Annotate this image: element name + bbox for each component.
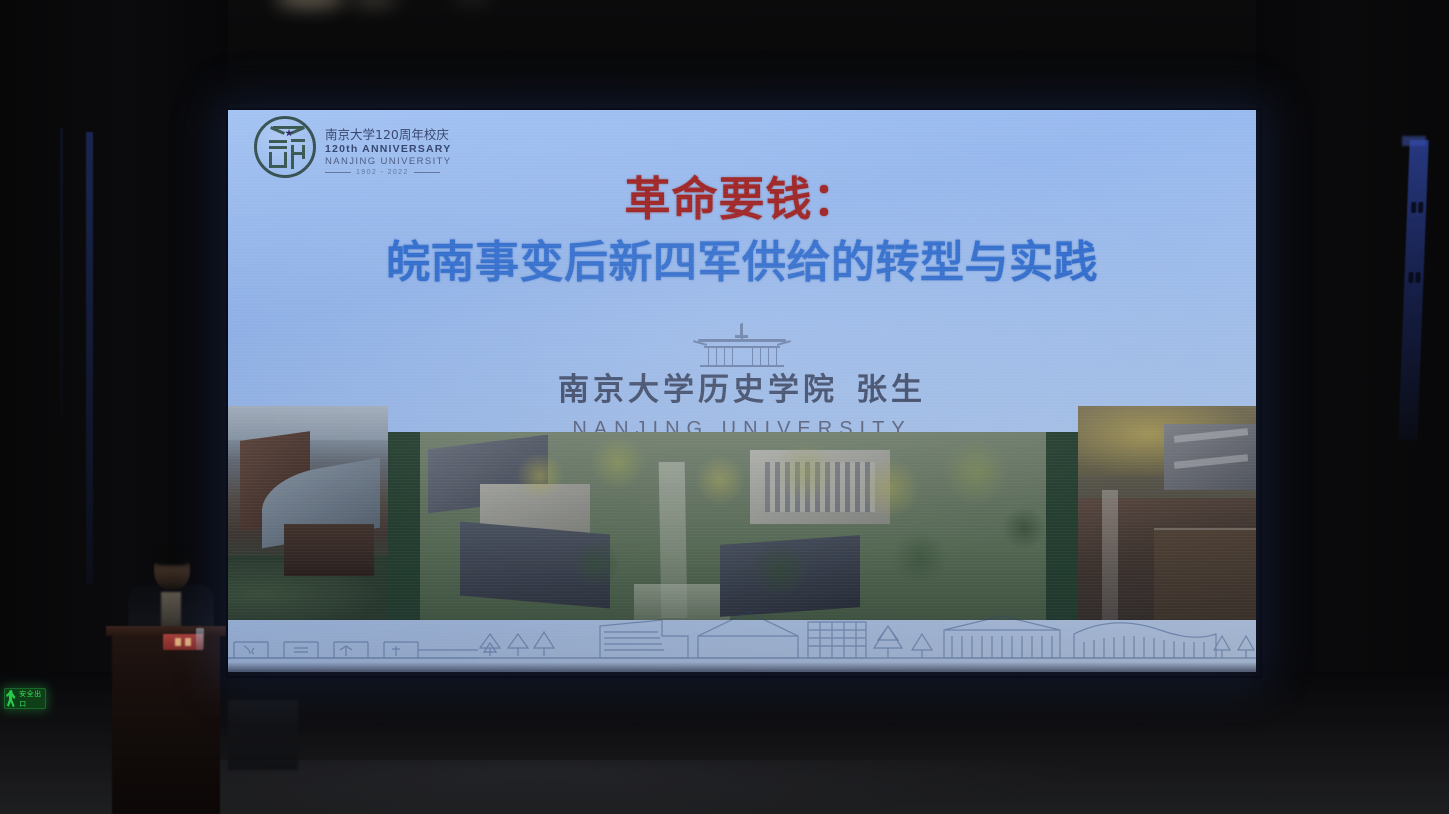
institution-name-cn: 南京大学历史学院: [558, 372, 838, 408]
logo-cn-line: 南京大学120周年校庆: [325, 128, 452, 142]
logo-en-university: NANJING UNIVERSITY: [325, 156, 452, 167]
lecture-hall-room: 安全出口 南京大学120周年校庆: [0, 0, 1449, 814]
column-vent: [1418, 202, 1423, 213]
logo-en-anniversary: 120th ANNIVERSARY: [325, 143, 452, 155]
emergency-exit-sign: 安全出口: [4, 688, 46, 709]
presenter-name-cn: 张生: [856, 372, 926, 408]
stage-chair: [228, 700, 298, 770]
screen-bottom-shade: [228, 662, 1256, 672]
slide-title-block: 革命要钱： 皖南事变后新四军供给的转型与实践: [228, 172, 1256, 291]
column-vent: [1415, 272, 1420, 283]
floor-light-sheen: [180, 760, 1080, 814]
projection-screen: 南京大学120周年校庆 120th ANNIVERSARY NANJING UN…: [228, 110, 1256, 672]
left-door-frame-highlight: [86, 132, 93, 584]
collage-green-band-left: [388, 432, 420, 620]
lectern: [112, 630, 220, 814]
name-plate-glyph: [185, 638, 191, 646]
anniversary-logo: 南京大学120周年校庆 120th ANNIVERSARY NANJING UN…: [254, 116, 452, 178]
column-vent: [1408, 272, 1413, 283]
slide-title-primary: 革命要钱：: [228, 172, 1256, 226]
name-plate-glyph: [175, 638, 181, 646]
university-building-icon: [690, 324, 794, 368]
column-vent: [1411, 202, 1416, 213]
photo-center-aerial-campus: [420, 432, 1046, 620]
water-bottle: [196, 628, 204, 650]
slide-title-secondary: 皖南事变后新四军供给的转型与实践: [228, 234, 1256, 291]
collage-green-band-right: [1046, 432, 1078, 620]
anniversary-logo-text: 南京大学120周年校庆 120th ANNIVERSARY NANJING UN…: [325, 118, 452, 175]
photo-left-campus-building: [228, 406, 388, 620]
nju-seal-icon: [254, 116, 316, 178]
presenter-hair: [152, 545, 192, 565]
affiliation-line: 南京大学历史学院张生: [228, 372, 1256, 409]
running-person-icon: [5, 689, 17, 708]
left-wall-edge-highlight: [60, 128, 63, 428]
exit-sign-label: 安全出口: [17, 689, 45, 709]
photo-right-courtyard: [1078, 406, 1256, 620]
